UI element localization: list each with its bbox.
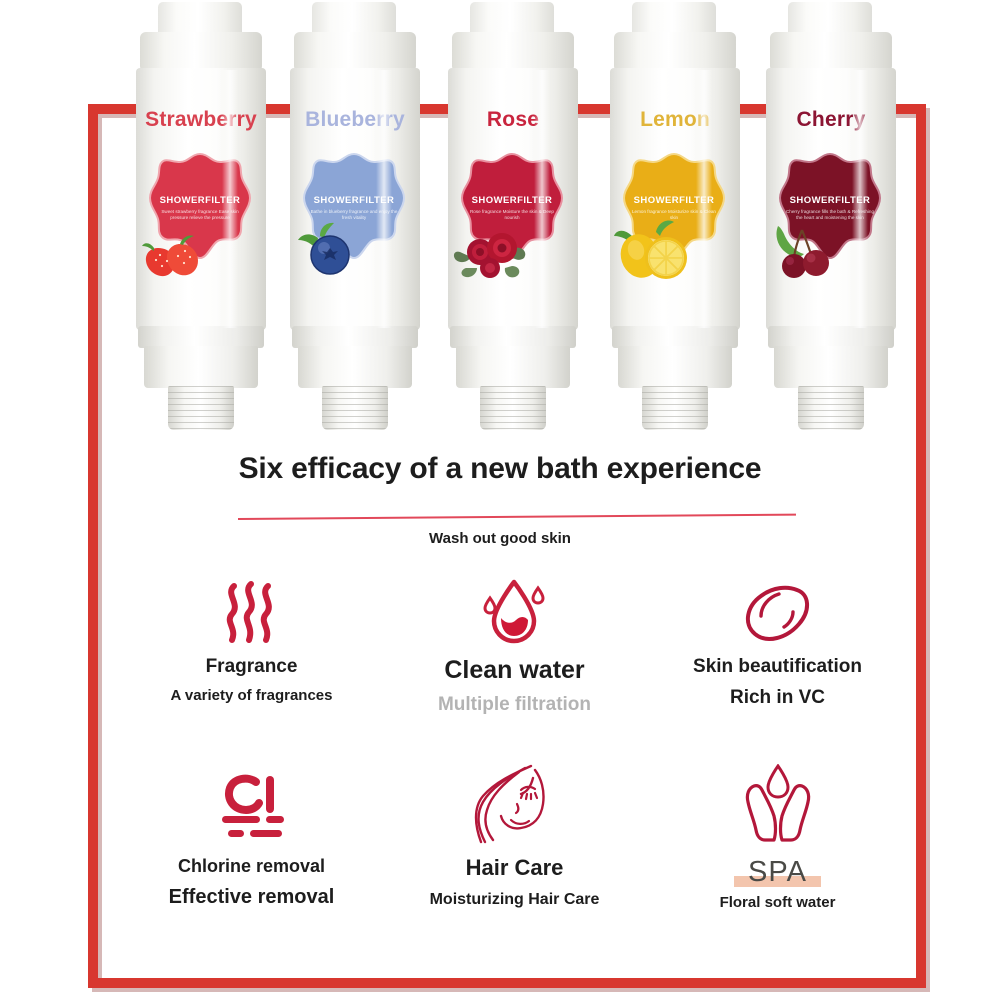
label-title: SHOWERFILTER [302,195,406,206]
strawberry-icon [140,218,214,280]
product-bottle-row: Strawberry SHOWERFILTER Sweet strawberry… [0,0,1000,440]
bottle-thread [642,386,708,430]
feature-hair-care[interactable]: Hair Care Moisturizing Hair Care [383,772,646,911]
bottle-cap-top [632,2,716,36]
feature-row-2: Chlorine removal Effective removal [120,772,910,911]
bottle-cap-ring [770,32,892,72]
bottle-fruit-name: Lemon [600,108,750,132]
bottle-cap-ring [294,32,416,72]
feature-subtitle: Multiple filtration [383,694,646,716]
cherry-icon [772,218,846,280]
feature-subtitle: Floral soft water [646,894,909,911]
lemon-icon [614,214,694,282]
page-title: Six efficacy of a new bath experience [0,452,1000,486]
bottle-blueberry[interactable]: Blueberry SHOWERFILTER Bathe in blueberr… [280,0,430,432]
steam-waves-icon [120,572,383,648]
bottle-collar [450,326,576,348]
lemon-outline-icon [646,572,909,648]
bottle-cap-ring [452,32,574,72]
bottle-collar [612,326,738,348]
bottle-thread [168,386,234,430]
bottle-fruit-name: Blueberry [280,108,430,132]
label-title: SHOWERFILTER [622,195,726,206]
spa-label: SPA [748,856,807,888]
feature-title: Chlorine removal [120,856,383,876]
bottle-collar [768,326,894,348]
bottle-fruit-name: Strawberry [126,108,276,132]
feature-spa[interactable]: SPA Floral soft water [646,772,909,911]
bottle-rose[interactable]: Rose SHOWERFILTER Rose fragrance Moistur… [438,0,588,432]
feature-subtitle: Moisturizing Hair Care [383,891,646,909]
water-drop-icon [383,572,646,648]
bottle-cap-ring [140,32,262,72]
hands-drop-spa-icon [646,772,909,848]
feature-subtitle: A variety of fragrances [120,687,383,704]
feature-subtitle: Rich in VC [646,687,909,709]
label-title: SHOWERFILTER [148,195,252,206]
page-subtitle: Wash out good skin [0,530,1000,547]
feature-clean-water[interactable]: Clean water Multiple filtration [383,572,646,716]
bottle-thread [480,386,546,430]
bottle-strawberry[interactable]: Strawberry SHOWERFILTER Sweet strawberry… [126,0,276,432]
bottle-base [618,346,732,388]
feature-grid: Fragrance A variety of fragrances Clean … [120,572,910,911]
blueberry-icon [296,222,364,278]
bottle-cherry[interactable]: Cherry SHOWERFILTER Cherry fragrance fil… [756,0,906,432]
bottle-fruit-name: Cherry [756,108,906,132]
bottle-thread [322,386,388,430]
rose-icon [452,216,530,280]
label-subtitle: Bathe in blueberry fragrance and enjoy t… [308,209,400,221]
bottle-cap-top [158,2,242,36]
chlorine-cl-icon [120,772,383,848]
hair-face-icon [383,772,646,848]
bottle-cap-top [312,2,396,36]
product-infographic-page: Strawberry SHOWERFILTER Sweet strawberry… [0,0,1000,1000]
feature-chlorine-removal[interactable]: Chlorine removal Effective removal [120,772,383,911]
bottle-fruit-name: Rose [438,108,588,132]
feature-subtitle: Effective removal [120,886,383,909]
feature-skin-beautification[interactable]: Skin beautification Rich in VC [646,572,909,716]
feature-title: Hair Care [383,856,646,881]
feature-title: Skin beautification [646,656,909,677]
bottle-cap-top [788,2,872,36]
bottle-collar [138,326,264,348]
bottle-lemon[interactable]: Lemon SHOWERFILTER Lemon fragrance Moist… [600,0,750,432]
heading-block: Six efficacy of a new bath experience Wa… [0,452,1000,486]
feature-title: Clean water [383,656,646,684]
bottle-cap-top [470,2,554,36]
bottle-collar [292,326,418,348]
bottle-base [298,346,412,388]
feature-title-spa: SPA [646,856,909,888]
label-title: SHOWERFILTER [460,195,564,206]
bottle-cap-ring [614,32,736,72]
bottle-thread [798,386,864,430]
feature-row-1: Fragrance A variety of fragrances Clean … [120,572,910,716]
bottle-base [774,346,888,388]
bottle-base [144,346,258,388]
feature-fragrance[interactable]: Fragrance A variety of fragrances [120,572,383,716]
label-title: SHOWERFILTER [778,195,882,206]
feature-title: Fragrance [120,656,383,677]
bottle-base [456,346,570,388]
